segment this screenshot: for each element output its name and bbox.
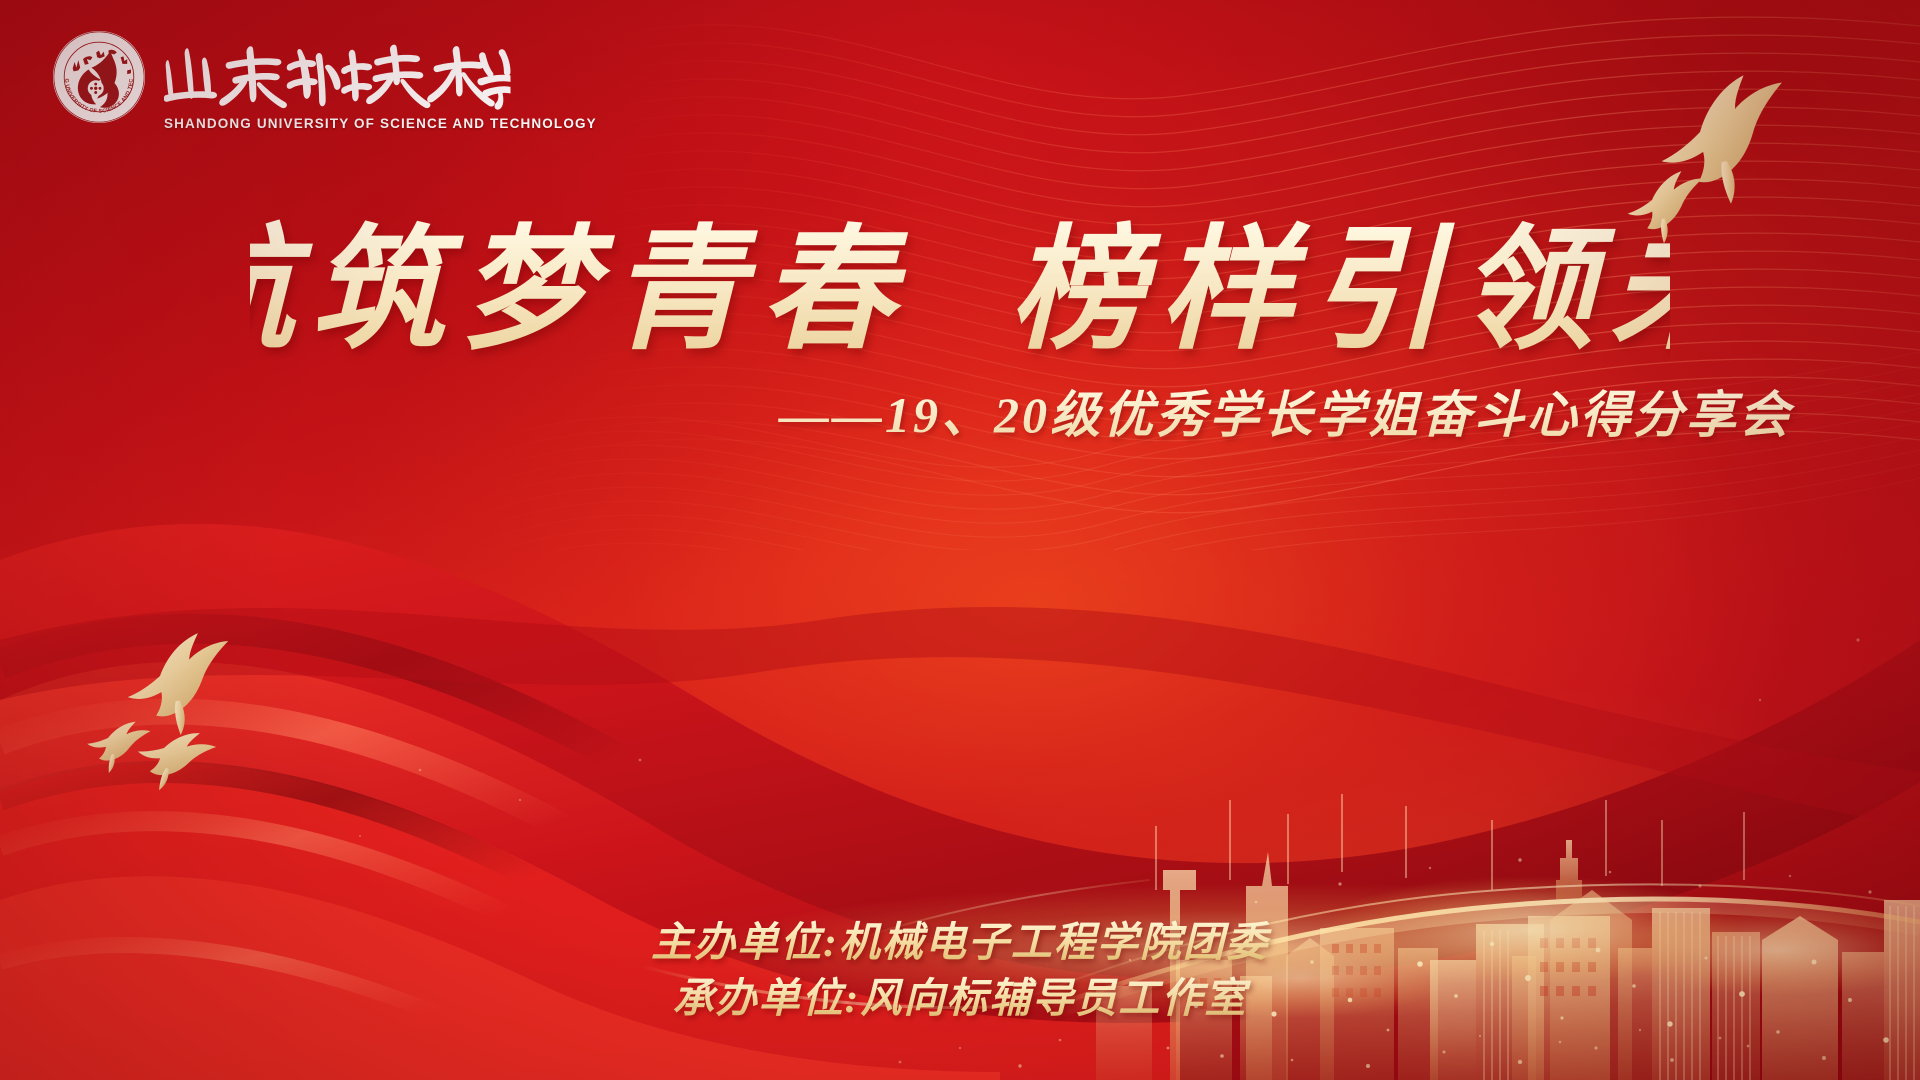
university-name-cn: 山东科技大学 (164, 44, 511, 110)
dove-icon (130, 720, 218, 801)
headline-calligraphy: 领航筑梦青春 榜样引领未来 领航筑梦青春 榜样引领未来 (250, 196, 1670, 386)
organiser-line-host: 主办单位:机械电子工程学院团委 (651, 919, 1272, 965)
shandong-university-emblem-icon: SHANDONG UNIVERSITY OF SCIENCE AND TECHN… (52, 30, 146, 124)
university-name-en: SHANDONG UNIVERSITY OF SCIENCE AND TECHN… (164, 116, 597, 131)
dove-icon (118, 627, 246, 744)
dove-icon (84, 717, 151, 777)
event-poster: SHANDONG UNIVERSITY OF SCIENCE AND TECHN… (0, 0, 1920, 1080)
organiser-block: 主办单位:机械电子工程学院团委 承办单位:风向标辅导员工作室 (0, 908, 1920, 1032)
svg-text:——19、20级优秀学长学姐奋斗心得分享会: ——19、20级优秀学长学姐奋斗心得分享会 (778, 387, 1796, 443)
svg-text:领航筑梦青春 榜样引领未来: 领航筑梦青春 榜样引领未来 (250, 217, 1670, 365)
university-logo-block: SHANDONG UNIVERSITY OF SCIENCE AND TECHN… (52, 30, 597, 131)
organiser-line-organizer: 承办单位:风向标辅导员工作室 (673, 975, 1252, 1021)
organiser-calligraphy: 主办单位:机械电子工程学院团委 承办单位:风向标辅导员工作室 (580, 908, 1340, 1032)
event-subtitle: ——19、20级优秀学长学姐奋斗心得分享会 ——19、20级优秀学长学姐奋斗心得… (678, 374, 1798, 458)
page-title: 领航筑梦青春 榜样引领未来 领航筑梦青春 榜样引领未来 (0, 196, 1920, 391)
subtitle-calligraphy: ——19、20级优秀学长学姐奋斗心得分享会 ——19、20级优秀学长学姐奋斗心得… (678, 374, 1798, 458)
